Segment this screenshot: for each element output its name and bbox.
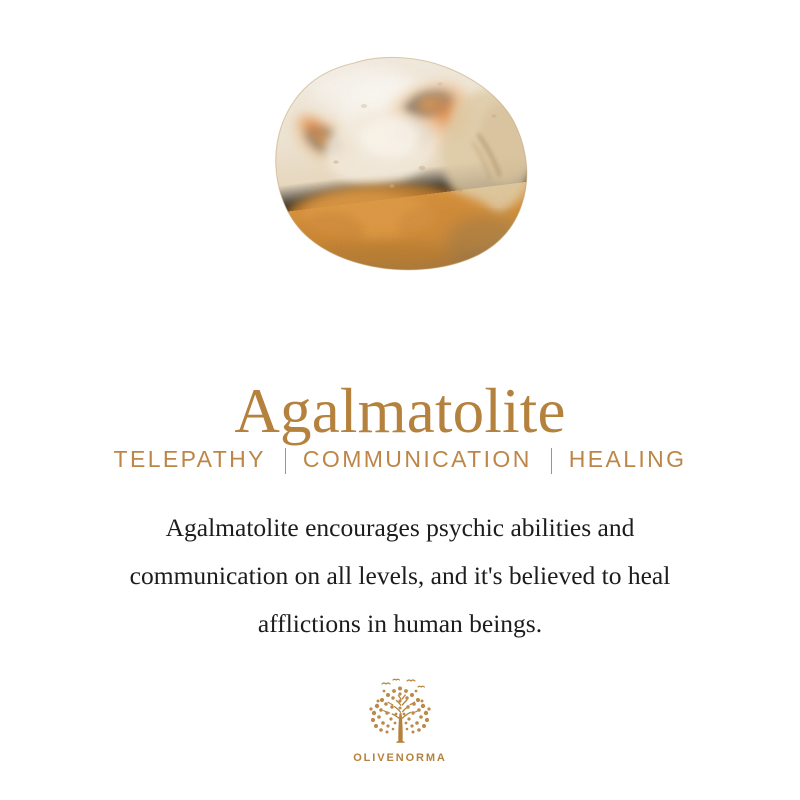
agalmatolite-stone-image [272, 56, 538, 276]
keyword-telepathy: TELEPATHY [114, 446, 266, 473]
brand-logo: OLIVENORMA [0, 676, 800, 764]
keyword-separator-icon [551, 448, 552, 474]
stone-info-card: Agalmatolite TELEPATHY COMMUNICATION HEA… [0, 0, 800, 800]
description-line: communication on all levels, and it's be… [60, 552, 740, 600]
brand-wordmark: OLIVENORMA [353, 752, 447, 764]
hero-image-area [0, 0, 800, 310]
keyword-list: TELEPATHY COMMUNICATION HEALING [0, 446, 800, 473]
keyword-healing: HEALING [569, 446, 687, 473]
description-text: Agalmatolite encourages psychic abilitie… [60, 504, 740, 648]
page-title: Agalmatolite [0, 378, 800, 445]
keyword-communication: COMMUNICATION [303, 446, 532, 473]
keyword-separator-icon [285, 448, 286, 474]
description-line: afflictions in human beings. [60, 600, 740, 648]
olive-tree-icon [362, 676, 438, 748]
description-line: Agalmatolite encourages psychic abilitie… [60, 504, 740, 552]
